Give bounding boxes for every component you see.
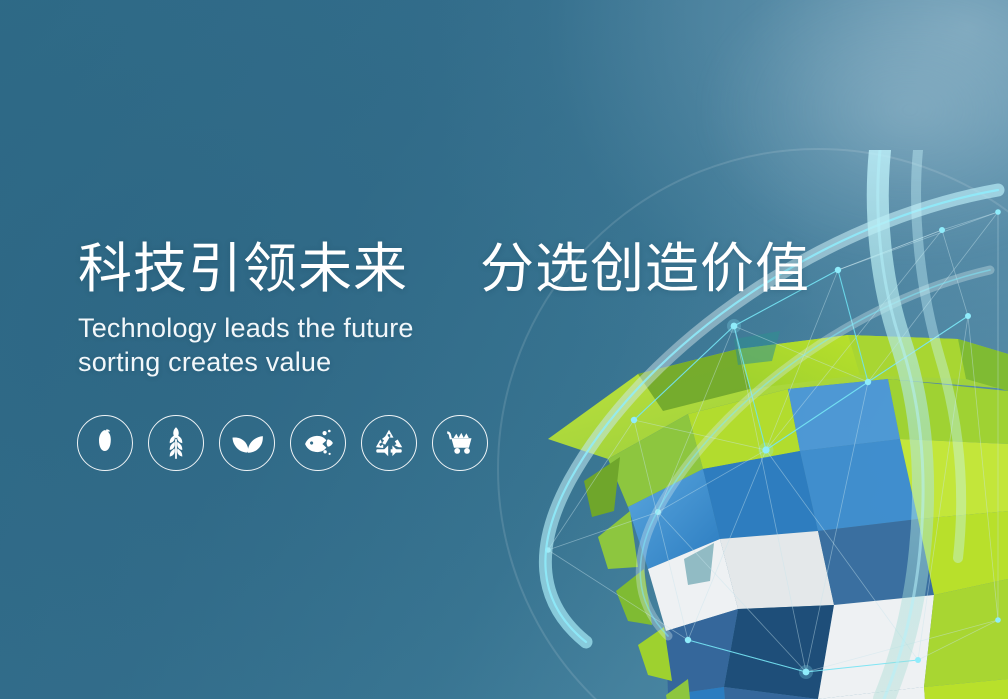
page-subtitle: Technology leads the future sorting crea… xyxy=(78,312,778,379)
fish-icon xyxy=(302,429,334,457)
icon-badge-rice-grain[interactable] xyxy=(77,415,133,471)
orbital-ribbon-graphic xyxy=(528,150,1008,699)
icon-badge-fish[interactable] xyxy=(290,415,346,471)
subtitle-line-2: sorting creates value xyxy=(78,346,778,379)
hero-banner: 科技引领未来 分选创造价值 Technology leads the futur… xyxy=(0,0,1008,699)
recycle-icon xyxy=(374,428,404,458)
icon-badge-leaf-sprout[interactable] xyxy=(219,415,275,471)
industry-icon-row xyxy=(77,415,488,471)
icon-badge-recycle[interactable] xyxy=(361,415,417,471)
page-title: 科技引领未来 分选创造价值 xyxy=(78,240,778,298)
headline-phrase-1: 科技引领未来 xyxy=(78,239,408,299)
icon-badge-wheat-stalk[interactable] xyxy=(148,415,204,471)
mining-cart-icon xyxy=(444,429,476,457)
hero-copy: 科技引领未来 分选创造价值 Technology leads the futur… xyxy=(78,240,778,379)
icon-badge-mining-cart[interactable] xyxy=(432,415,488,471)
wheat-stalk-icon xyxy=(162,426,190,460)
leaf-sprout-icon xyxy=(231,430,263,456)
subtitle-line-1: Technology leads the future xyxy=(78,312,778,345)
headline-phrase-2: 分选创造价值 xyxy=(480,239,810,299)
rice-grain-icon xyxy=(92,428,118,458)
